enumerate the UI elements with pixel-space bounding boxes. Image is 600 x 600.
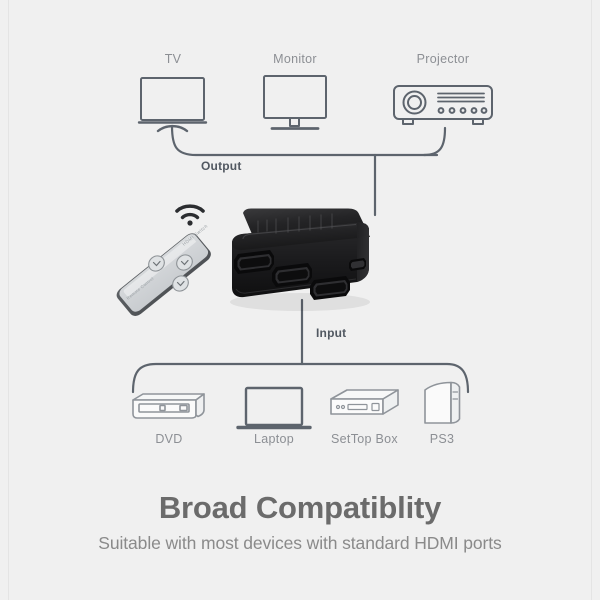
device-label-laptop: Laptop (239, 432, 309, 446)
device-label-tv: TV (143, 52, 203, 66)
device-label-projector: Projector (413, 52, 473, 66)
page-title: Broad Compatiblity (0, 490, 600, 526)
settop-box-icon (331, 390, 398, 414)
projector-icon (394, 86, 492, 124)
page-subtitle: Suitable with most devices with standard… (0, 533, 600, 554)
hdmi-switch-box (230, 209, 370, 312)
infographic-canvas: HDMI Switch Remote Control (0, 0, 600, 600)
input-bus-label: Input (316, 326, 346, 340)
monitor-icon (264, 76, 326, 129)
device-label-ps3: PS3 (412, 432, 472, 446)
device-label-dvd: DVD (134, 432, 204, 446)
output-bus-label: Output (201, 159, 242, 173)
tv-icon (139, 78, 206, 131)
dvd-player-icon (133, 394, 204, 418)
ir-remote-control: HDMI Switch Remote Control (117, 223, 211, 316)
hdmi-output-port (349, 258, 366, 271)
laptop-icon (238, 388, 310, 428)
device-label-settop-box: SetTop Box (322, 432, 407, 446)
device-label-monitor: Monitor (265, 52, 325, 66)
wifi-signal-icon (177, 206, 203, 225)
input-bus-line (133, 300, 468, 392)
game-console-icon (425, 383, 460, 424)
